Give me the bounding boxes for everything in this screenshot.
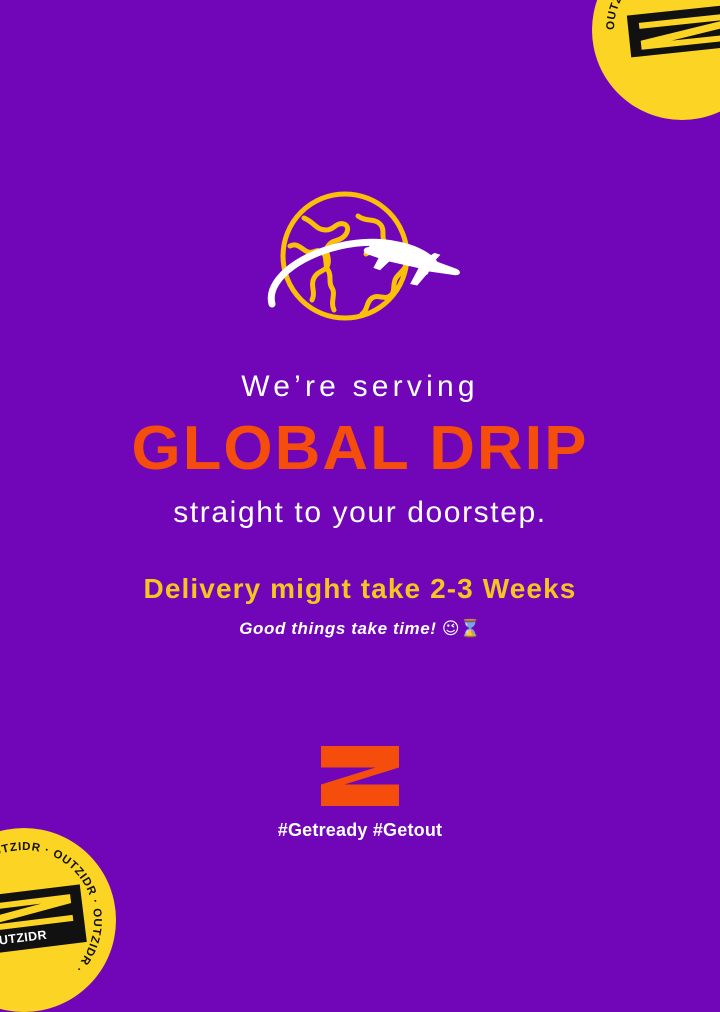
headline-block: We’re serving GLOBAL DRIP straight to yo… [0,372,720,638]
hashtags: #Getready #Getout [278,820,442,841]
page-title-text: GLOBAL DRIP [132,418,589,480]
reassurance-note: Good things take time! 😉⌛ [0,620,720,638]
poster-content: We’re serving GLOBAL DRIP straight to yo… [0,0,720,960]
globe-airplane-graphic [240,178,480,338]
delivery-notice: Delivery might take 2-3 Weeks [0,575,720,603]
headline-eyebrow: We’re serving [0,372,720,402]
wink-hourglass-emoji: 😉⌛ [442,619,481,639]
globe-airplane-icon [240,178,480,338]
z-logo-icon [321,746,399,806]
page-title: GLOBAL DRIP [0,418,720,480]
reassurance-text: Good things take time! [239,619,436,638]
headline-subtitle: straight to your doorstep. [0,498,720,528]
poster-footer: #Getready #Getout [0,746,720,841]
